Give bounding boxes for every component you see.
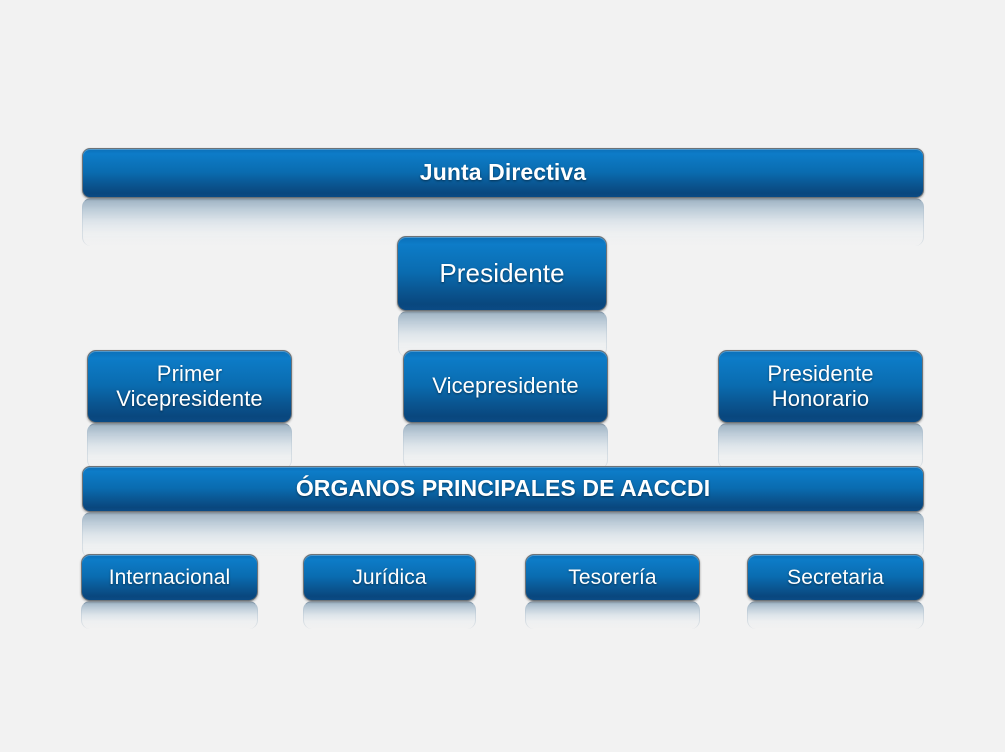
organigrama-canvas: Junta Directiva Presidente Primer Vicepr… [0, 0, 1005, 752]
node-presidente-honorario[interactable]: Presidente Honorario [718, 350, 923, 423]
node-presidente-honorario-label: Presidente Honorario [767, 362, 873, 411]
reflection-tesoreria [525, 601, 700, 629]
node-vicepresidente-label: Vicepresidente [432, 374, 579, 399]
node-presidente-label: Presidente [439, 259, 564, 288]
node-primer-vicepresidente[interactable]: Primer Vicepresidente [87, 350, 292, 423]
node-internacional-label: Internacional [109, 566, 231, 590]
reflection-internacional [81, 601, 258, 629]
node-secretaria[interactable]: Secretaria [747, 554, 924, 601]
reflection-vicepresidente [403, 423, 608, 469]
node-junta-directiva[interactable]: Junta Directiva [82, 148, 924, 198]
node-internacional[interactable]: Internacional [81, 554, 258, 601]
node-tesoreria[interactable]: Tesorería [525, 554, 700, 601]
reflection-primer-vicepresidente [87, 423, 292, 469]
reflection-secretaria [747, 601, 924, 629]
node-vicepresidente[interactable]: Vicepresidente [403, 350, 608, 423]
node-juridica[interactable]: Jurídica [303, 554, 476, 601]
reflection-juridica [303, 601, 476, 629]
node-secretaria-label: Secretaria [787, 566, 884, 590]
node-junta-directiva-label: Junta Directiva [420, 160, 586, 186]
node-tesoreria-label: Tesorería [568, 566, 656, 590]
reflection-presidente-honorario [718, 423, 923, 469]
node-presidente[interactable]: Presidente [397, 236, 607, 311]
node-organos-principales[interactable]: ÓRGANOS PRINCIPALES DE AACCDI [82, 466, 924, 512]
reflection-organos-principales [82, 512, 924, 558]
node-primer-vicepresidente-label: Primer Vicepresidente [116, 362, 263, 411]
node-juridica-label: Jurídica [352, 566, 426, 590]
node-organos-principales-label: ÓRGANOS PRINCIPALES DE AACCDI [296, 476, 710, 502]
